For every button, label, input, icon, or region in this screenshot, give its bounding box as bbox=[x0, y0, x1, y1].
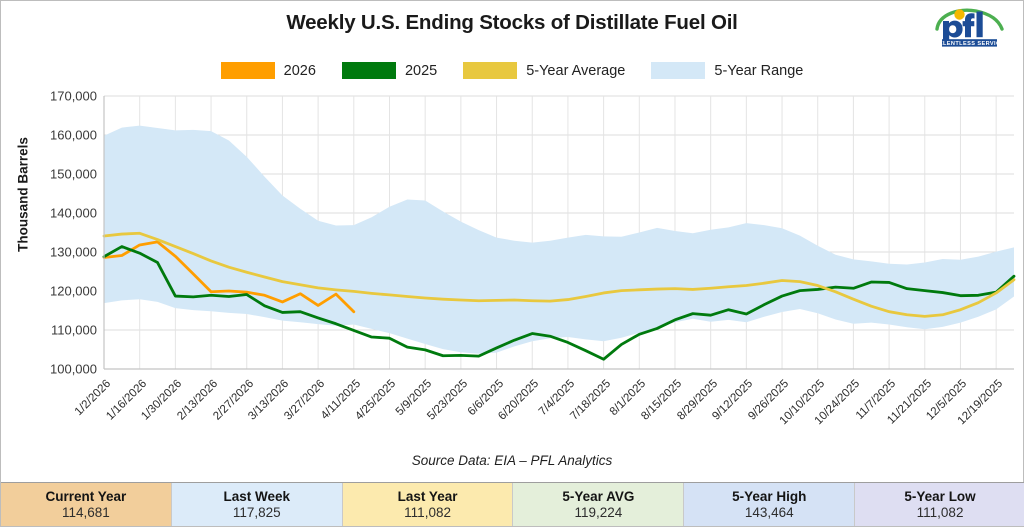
summary-cell-label: Current Year bbox=[46, 489, 127, 504]
legend-swatch-icon bbox=[342, 62, 396, 79]
legend-swatch-icon bbox=[651, 62, 705, 79]
chart-page: Weekly U.S. Ending Stocks of Distillate … bbox=[0, 0, 1024, 527]
pfl-logo: RELENTLESS SERVICE bbox=[931, 5, 1009, 51]
summary-cell-label: 5-Year Low bbox=[904, 489, 975, 504]
legend-item-2025[interactable]: 2025 bbox=[342, 62, 437, 79]
svg-text:RELENTLESS SERVICE: RELENTLESS SERVICE bbox=[934, 41, 1004, 47]
page-title: Weekly U.S. Ending Stocks of Distillate … bbox=[1, 11, 1023, 35]
y-axis-tick-label: 170,000 bbox=[25, 89, 97, 104]
summary-cell-label: Last Week bbox=[223, 489, 290, 504]
summary-cell-value: 119,224 bbox=[574, 505, 622, 520]
summary-cell-label: 5-Year AVG bbox=[562, 489, 634, 504]
summary-cell-value: 111,082 bbox=[917, 505, 964, 520]
five-year-range-band bbox=[104, 126, 1014, 354]
series-line-5-year-average bbox=[104, 233, 1014, 316]
summary-cell-value: 117,825 bbox=[233, 505, 281, 520]
y-axis-tick-label: 140,000 bbox=[25, 206, 97, 221]
y-axis-tick-label: 100,000 bbox=[25, 362, 97, 377]
plot-background bbox=[104, 96, 1014, 369]
series-line-2026 bbox=[104, 242, 354, 312]
legend-swatch-icon bbox=[463, 62, 517, 79]
y-axis-tick-label: 130,000 bbox=[25, 245, 97, 260]
x-axis-ticks: 1/2/20261/16/20261/30/20262/13/20262/27/… bbox=[1, 1, 1024, 528]
summary-cell-last-year[interactable]: Last Year111,082 bbox=[343, 483, 514, 526]
summary-table: Current Year114,681Last Week117,825Last … bbox=[1, 482, 1024, 526]
summary-cell-current-year[interactable]: Current Year114,681 bbox=[1, 483, 172, 526]
y-axis-tick-label: 160,000 bbox=[25, 128, 97, 143]
y-axis-ticks: 100,000110,000120,000130,000140,000150,0… bbox=[25, 1, 97, 528]
summary-cell-last-week[interactable]: Last Week117,825 bbox=[172, 483, 343, 526]
legend-label: 5-Year Average bbox=[526, 63, 625, 79]
chart-canvas bbox=[1, 1, 1024, 528]
legend-item-2026[interactable]: 2026 bbox=[221, 62, 316, 79]
summary-cell-label: 5-Year High bbox=[732, 489, 806, 504]
summary-cell-5-year-avg[interactable]: 5-Year AVG119,224 bbox=[513, 483, 684, 526]
legend-item-5-year-average[interactable]: 5-Year Average bbox=[463, 62, 625, 79]
legend-label: 2026 bbox=[284, 63, 316, 79]
legend-swatch-icon bbox=[221, 62, 275, 79]
legend-label: 5-Year Range bbox=[714, 63, 803, 79]
summary-cell-value: 114,681 bbox=[62, 505, 110, 520]
summary-cell-5-year-high[interactable]: 5-Year High143,464 bbox=[684, 483, 855, 526]
y-axis-tick-label: 110,000 bbox=[25, 323, 97, 338]
series-line-2025 bbox=[104, 247, 1014, 360]
y-axis-tick-label: 150,000 bbox=[25, 167, 97, 182]
plot-area: Thousand Barrels 100,000110,000120,00013… bbox=[1, 1, 1024, 528]
y-axis-tick-label: 120,000 bbox=[25, 284, 97, 299]
legend-label: 2025 bbox=[405, 63, 437, 79]
source-note: Source Data: EIA – PFL Analytics bbox=[1, 453, 1023, 468]
summary-cell-value: 143,464 bbox=[745, 505, 794, 520]
y-axis-title: Thousand Barrels bbox=[16, 125, 31, 265]
summary-cell-label: Last Year bbox=[398, 489, 458, 504]
summary-cell-5-year-low[interactable]: 5-Year Low111,082 bbox=[855, 483, 1024, 526]
legend-item-5-year-range[interactable]: 5-Year Range bbox=[651, 62, 803, 79]
chart-legend: 202620255-Year Average5-Year Range bbox=[1, 62, 1023, 79]
summary-cell-value: 111,082 bbox=[404, 505, 451, 520]
